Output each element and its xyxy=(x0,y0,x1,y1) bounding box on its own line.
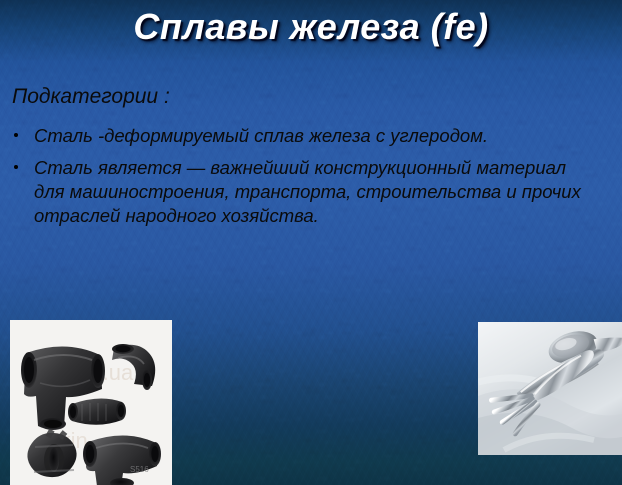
svg-text:S516: S516 xyxy=(130,465,149,474)
list-item: Сталь является — важнейший конструкционн… xyxy=(12,156,592,228)
bullet-dot-icon xyxy=(14,165,18,169)
list-item: Сталь -деформируемый сплав железа с угле… xyxy=(12,124,592,148)
subcategories-heading: Подкатегории : xyxy=(12,85,170,109)
bullet-list: Сталь -деформируемый сплав железа с угле… xyxy=(12,124,592,236)
slide-canvas: Сплавы железа (fe) Подкатегории : Сталь … xyxy=(0,0,622,485)
slide-title: Сплавы железа (fe) xyxy=(0,6,622,48)
bullet-dot-icon xyxy=(14,133,18,137)
bullet-text: Сталь -деформируемый сплав железа с угле… xyxy=(34,125,488,146)
stainless-steel-cutlery-photo xyxy=(478,322,622,455)
cast-iron-pipe-fittings-photo: e.com.ua rkin xyxy=(10,320,172,485)
bullet-text: Сталь является — важнейший конструкционн… xyxy=(34,157,581,226)
